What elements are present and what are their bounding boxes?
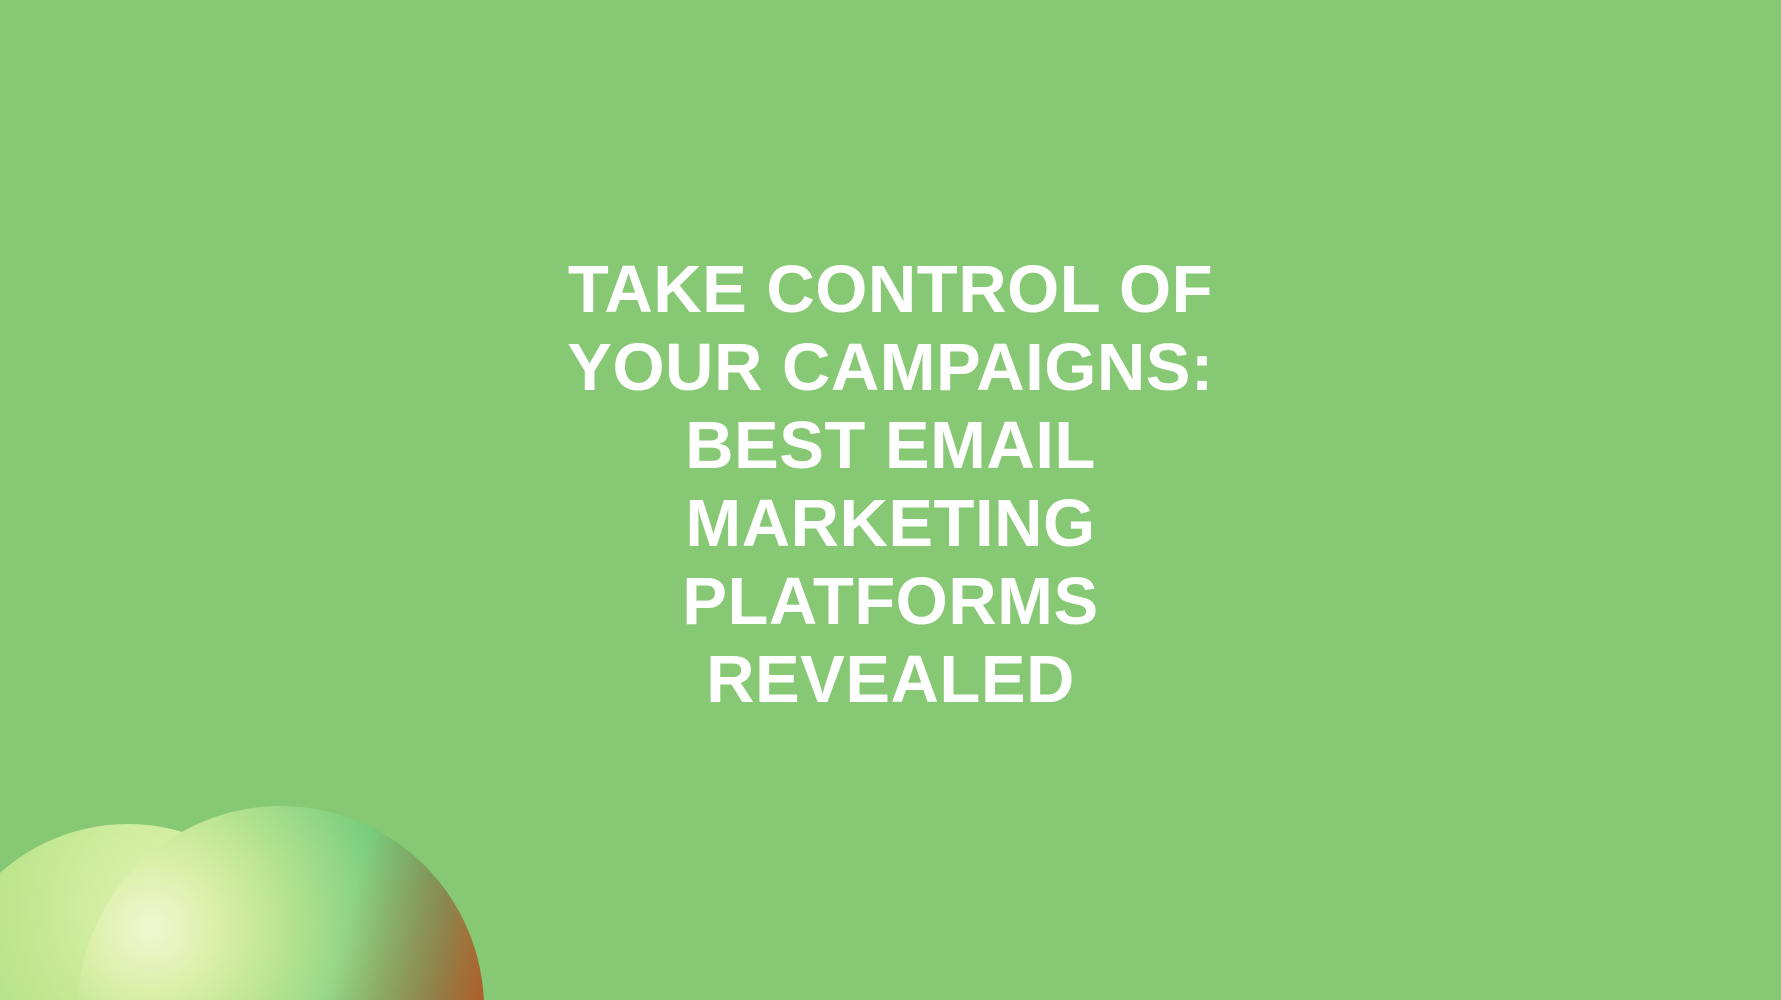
gradient-sphere-left-icon — [0, 824, 320, 1000]
gradient-sphere-right-icon — [78, 806, 484, 1000]
poster-canvas: TAKE CONTROL OF YOUR CAMPAIGNS: BEST EMA… — [0, 0, 1781, 1000]
headline-line-6: REVEALED — [0, 641, 1781, 719]
headline-line-3: BEST EMAIL — [0, 407, 1781, 485]
headline-line-2: YOUR CAMPAIGNS: — [0, 329, 1781, 407]
headline-line-4: MARKETING — [0, 485, 1781, 563]
page-title: TAKE CONTROL OF YOUR CAMPAIGNS: BEST EMA… — [0, 251, 1781, 719]
headline-line-1: TAKE CONTROL OF — [0, 251, 1781, 329]
headline-line-5: PLATFORMS — [0, 563, 1781, 641]
